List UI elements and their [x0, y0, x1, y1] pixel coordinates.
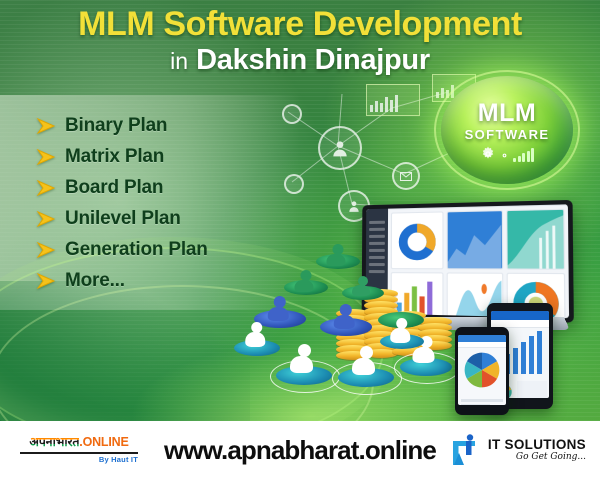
list-item[interactable]: Unilevel Plan — [36, 203, 286, 234]
arrow-right-icon — [36, 149, 58, 165]
badge-title: MLM — [478, 99, 536, 128]
list-item-label: Generation Plan — [65, 239, 208, 261]
user-node-icon — [318, 126, 362, 170]
mail-node-icon — [392, 162, 420, 190]
arrow-right-icon — [36, 180, 58, 196]
list-item-label: Matrix Plan — [65, 146, 164, 168]
growth-chart-card — [506, 209, 565, 270]
artwork-panel: MLM SOFTWARE — [0, 0, 600, 421]
arrow-right-icon — [36, 242, 58, 258]
list-item-label: Board Plan — [65, 177, 163, 199]
list-item[interactable]: Board Plan — [36, 172, 286, 203]
plans-list: Binary Plan Matrix Plan Board Plan Unile… — [36, 110, 286, 296]
it-solutions-name: IT SOLUTIONS — [488, 438, 586, 452]
page-subtitle: in Dakshin Dinajpur — [0, 43, 600, 77]
list-item[interactable]: Generation Plan — [36, 234, 286, 265]
mlm-software-banner: MLM SOFTWARE — [0, 0, 600, 480]
list-item-label: Binary Plan — [65, 115, 167, 137]
gear-icon — [480, 146, 496, 162]
it-solutions-logo[interactable]: IT SOLUTIONS Go Get Going... — [449, 433, 586, 467]
pie-chart-icon — [458, 348, 506, 392]
phone-pie-chart — [455, 327, 509, 415]
subtitle-prefix: in — [170, 48, 188, 74]
arrow-right-icon — [36, 118, 58, 134]
badge-subtitle: SOFTWARE — [465, 127, 550, 142]
list-item[interactable]: More... — [36, 265, 286, 296]
mlm-software-badge: MLM SOFTWARE — [441, 76, 573, 184]
subtitle-location: Dakshin Dinajpur — [196, 44, 430, 76]
node-dot-icon — [284, 174, 304, 194]
bar-chart-icon — [513, 148, 534, 162]
bar-chart-panel-icon — [366, 84, 420, 116]
arrow-right-icon — [36, 273, 58, 289]
area-chart-card — [447, 210, 503, 270]
list-item-label: More... — [65, 270, 125, 292]
headline-block: MLM Software Development in Dakshin Dina… — [0, 6, 600, 77]
footer-bar: अपनाभारत.ONLINE By Haut IT www.apnabhara… — [0, 421, 600, 480]
list-item-label: Unilevel Plan — [65, 208, 181, 230]
page-title: MLM Software Development — [0, 6, 600, 43]
arrow-right-icon — [36, 211, 58, 227]
it-solutions-monogram-icon — [449, 433, 483, 467]
website-url-text: www.apnabharat.online — [164, 435, 436, 466]
list-item[interactable]: Matrix Plan — [36, 141, 286, 172]
list-item[interactable]: Binary Plan — [36, 110, 286, 141]
gear-small-icon — [500, 151, 509, 160]
it-solutions-tagline: Go Get Going... — [488, 453, 586, 462]
